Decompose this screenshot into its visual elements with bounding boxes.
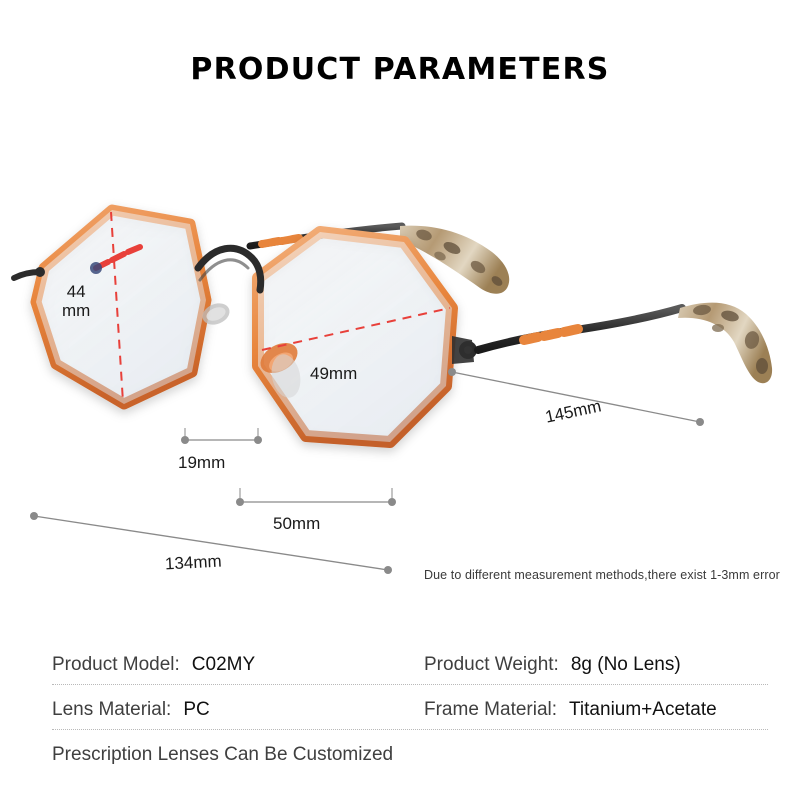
right-lens-rim [258,232,452,442]
eyeglasses-illustration [0,150,800,620]
table-row: Lens Material: PC Frame Material: Titani… [52,685,768,730]
spec-lens-material: Lens Material: PC [52,699,424,729]
temple-arm-near [478,303,772,384]
specification-table: Product Model: C02MY Product Weight: 8g … [52,640,768,774]
spec-product-weight: Product Weight: 8g (No Lens) [424,654,768,684]
measurement-label-lens-width: 49mm [310,364,357,384]
measurement-label-bridge-width: 19mm [178,453,225,473]
page-title: PRODUCT PARAMETERS [0,52,800,87]
spec-value: 8g (No Lens) [571,654,681,676]
spec-label: Product Model: [52,654,180,676]
spec-product-model: Product Model: C02MY [52,654,424,684]
spec-value: Titanium+Acetate [569,699,717,721]
product-diagram: 44 mm 49mm 145mm 19mm 50mm 134mm Due to … [0,150,800,620]
measurement-disclaimer: Due to different measurement methods,the… [424,568,780,582]
measurement-label-lens-height: 44 mm [62,282,90,320]
spec-value: C02MY [192,654,255,676]
spec-prescription-note: Prescription Lenses Can Be Customized [52,744,393,774]
measurement-label-lens-diagonal: 50mm [273,514,320,534]
table-row: Product Model: C02MY Product Weight: 8g … [52,640,768,685]
measurement-label-frame-width: 134mm [165,552,223,575]
hinge [452,336,477,364]
spec-label: Product Weight: [424,654,559,676]
spec-frame-material: Frame Material: Titanium+Acetate [424,699,768,729]
spec-label: Lens Material: [52,699,171,721]
spec-value: PC [183,699,209,721]
table-row-footer: Prescription Lenses Can Be Customized [52,730,768,774]
spec-label: Frame Material: [424,699,557,721]
